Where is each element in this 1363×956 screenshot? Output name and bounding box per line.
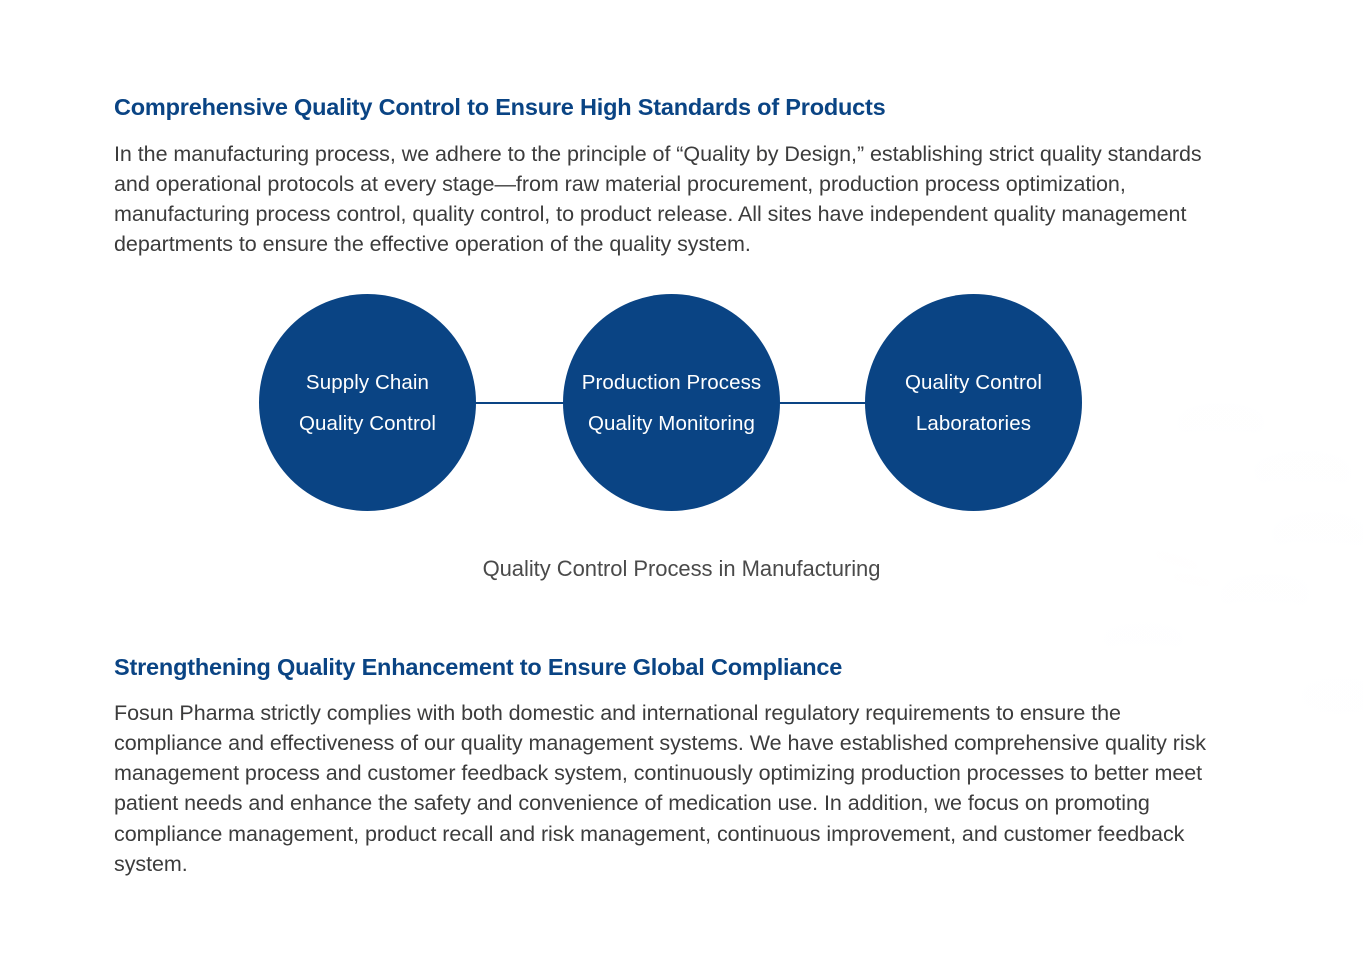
diagram-node-label-line1: Production Process (582, 362, 762, 403)
section-heading-quality-control: Comprehensive Quality Control to Ensure … (114, 94, 886, 121)
diagram-node-supply-chain-quality-control[interactable]: Supply Chain Quality Control (259, 294, 476, 511)
diagram-node-quality-control-laboratories[interactable]: Quality Control Laboratories (865, 294, 1082, 511)
connector-line-1 (470, 402, 576, 404)
quality-control-process-diagram: Supply Chain Quality Control Production … (0, 287, 1363, 587)
diagram-node-label-line2: Quality Control (299, 403, 436, 444)
section-paragraph-quality-control: In the manufacturing process, we adhere … (114, 139, 1234, 260)
section-paragraph-global-compliance: Fosun Pharma strictly complies with both… (114, 698, 1234, 880)
diagram-node-label-line1: Quality Control (905, 362, 1042, 403)
diagram-node-label-line2: Quality Monitoring (588, 403, 755, 444)
diagram-node-label-line2: Laboratories (916, 403, 1031, 444)
page-root: Comprehensive Quality Control to Ensure … (0, 0, 1363, 956)
diagram-node-production-process-quality-monitoring[interactable]: Production Process Quality Monitoring (563, 294, 780, 511)
section-heading-global-compliance: Strengthening Quality Enhancement to Ens… (114, 654, 842, 681)
diagram-node-label-line1: Supply Chain (306, 362, 429, 403)
diagram-caption: Quality Control Process in Manufacturing (0, 556, 1363, 582)
